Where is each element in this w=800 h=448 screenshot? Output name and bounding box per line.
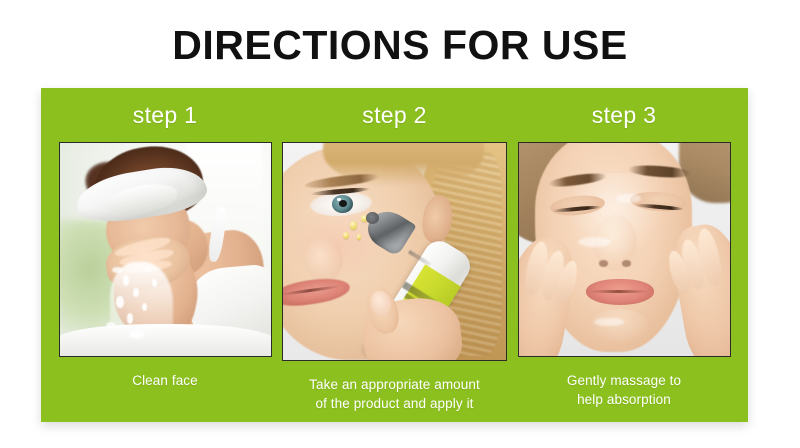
massage-illustration bbox=[519, 143, 730, 356]
step-item-1: step 1 bbox=[57, 98, 273, 422]
step-label-2: step 2 bbox=[362, 104, 426, 127]
step-caption-1: Clean face bbox=[132, 372, 198, 391]
step-item-3: step 3 bbox=[516, 98, 732, 422]
step-label-3: step 3 bbox=[592, 104, 656, 127]
clean-face-photo bbox=[59, 142, 272, 357]
step-label-1: step 1 bbox=[133, 104, 197, 127]
apply-product-illustration bbox=[283, 143, 506, 360]
step-caption-3-line-2: help absorption bbox=[567, 391, 681, 410]
page-title: DIRECTIONS FOR USE bbox=[0, 22, 800, 69]
step-caption-1-line-1: Clean face bbox=[132, 372, 198, 391]
apply-product-photo bbox=[282, 142, 507, 361]
step-caption-2-line-2: of the product and apply it bbox=[309, 395, 480, 414]
steps-row: step 1 bbox=[41, 88, 748, 422]
steps-panel: step 1 bbox=[41, 88, 748, 422]
step-caption-3: Gently massage to help absorption bbox=[567, 372, 681, 409]
directions-for-use-banner: DIRECTIONS FOR USE step 1 bbox=[0, 0, 800, 448]
step-caption-3-line-1: Gently massage to bbox=[567, 372, 681, 391]
massage-photo bbox=[518, 142, 731, 357]
step-caption-2: Take an appropriate amount of the produc… bbox=[309, 376, 480, 413]
step-item-2: step 2 bbox=[282, 98, 508, 422]
clean-face-illustration bbox=[60, 143, 271, 356]
step-caption-2-line-1: Take an appropriate amount bbox=[309, 376, 480, 395]
